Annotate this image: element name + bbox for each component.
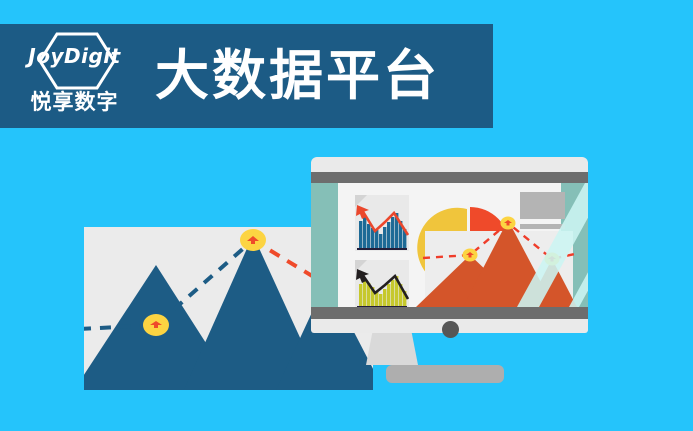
brand-logo: JoyDigit 悦享数字 bbox=[12, 30, 137, 122]
olive-bar-card bbox=[355, 260, 409, 307]
data-node-1 bbox=[463, 249, 478, 262]
page-title: 大数据平台 bbox=[155, 49, 440, 103]
illustration-canvas: JoyDigit 悦享数字 大数据平台 bbox=[0, 0, 693, 431]
data-node-2 bbox=[240, 229, 266, 251]
data-node-2 bbox=[501, 217, 516, 230]
data-node-1 bbox=[143, 314, 169, 336]
desktop-monitor bbox=[311, 157, 588, 333]
monitor-top-bezel bbox=[311, 172, 588, 183]
logo-wordmark: JoyDigit bbox=[12, 44, 137, 68]
monitor-stand bbox=[366, 333, 418, 365]
monitor-screen bbox=[311, 183, 588, 307]
monitor-bottom-bezel bbox=[311, 307, 588, 319]
logo-subtitle: 悦享数字 bbox=[12, 86, 137, 116]
accent-band-left bbox=[311, 183, 338, 307]
monitor-base bbox=[386, 365, 504, 383]
monitor-power-indicator bbox=[442, 321, 459, 338]
header-banner: JoyDigit 悦享数字 大数据平台 bbox=[0, 24, 493, 128]
blue-bar-card bbox=[355, 195, 409, 251]
